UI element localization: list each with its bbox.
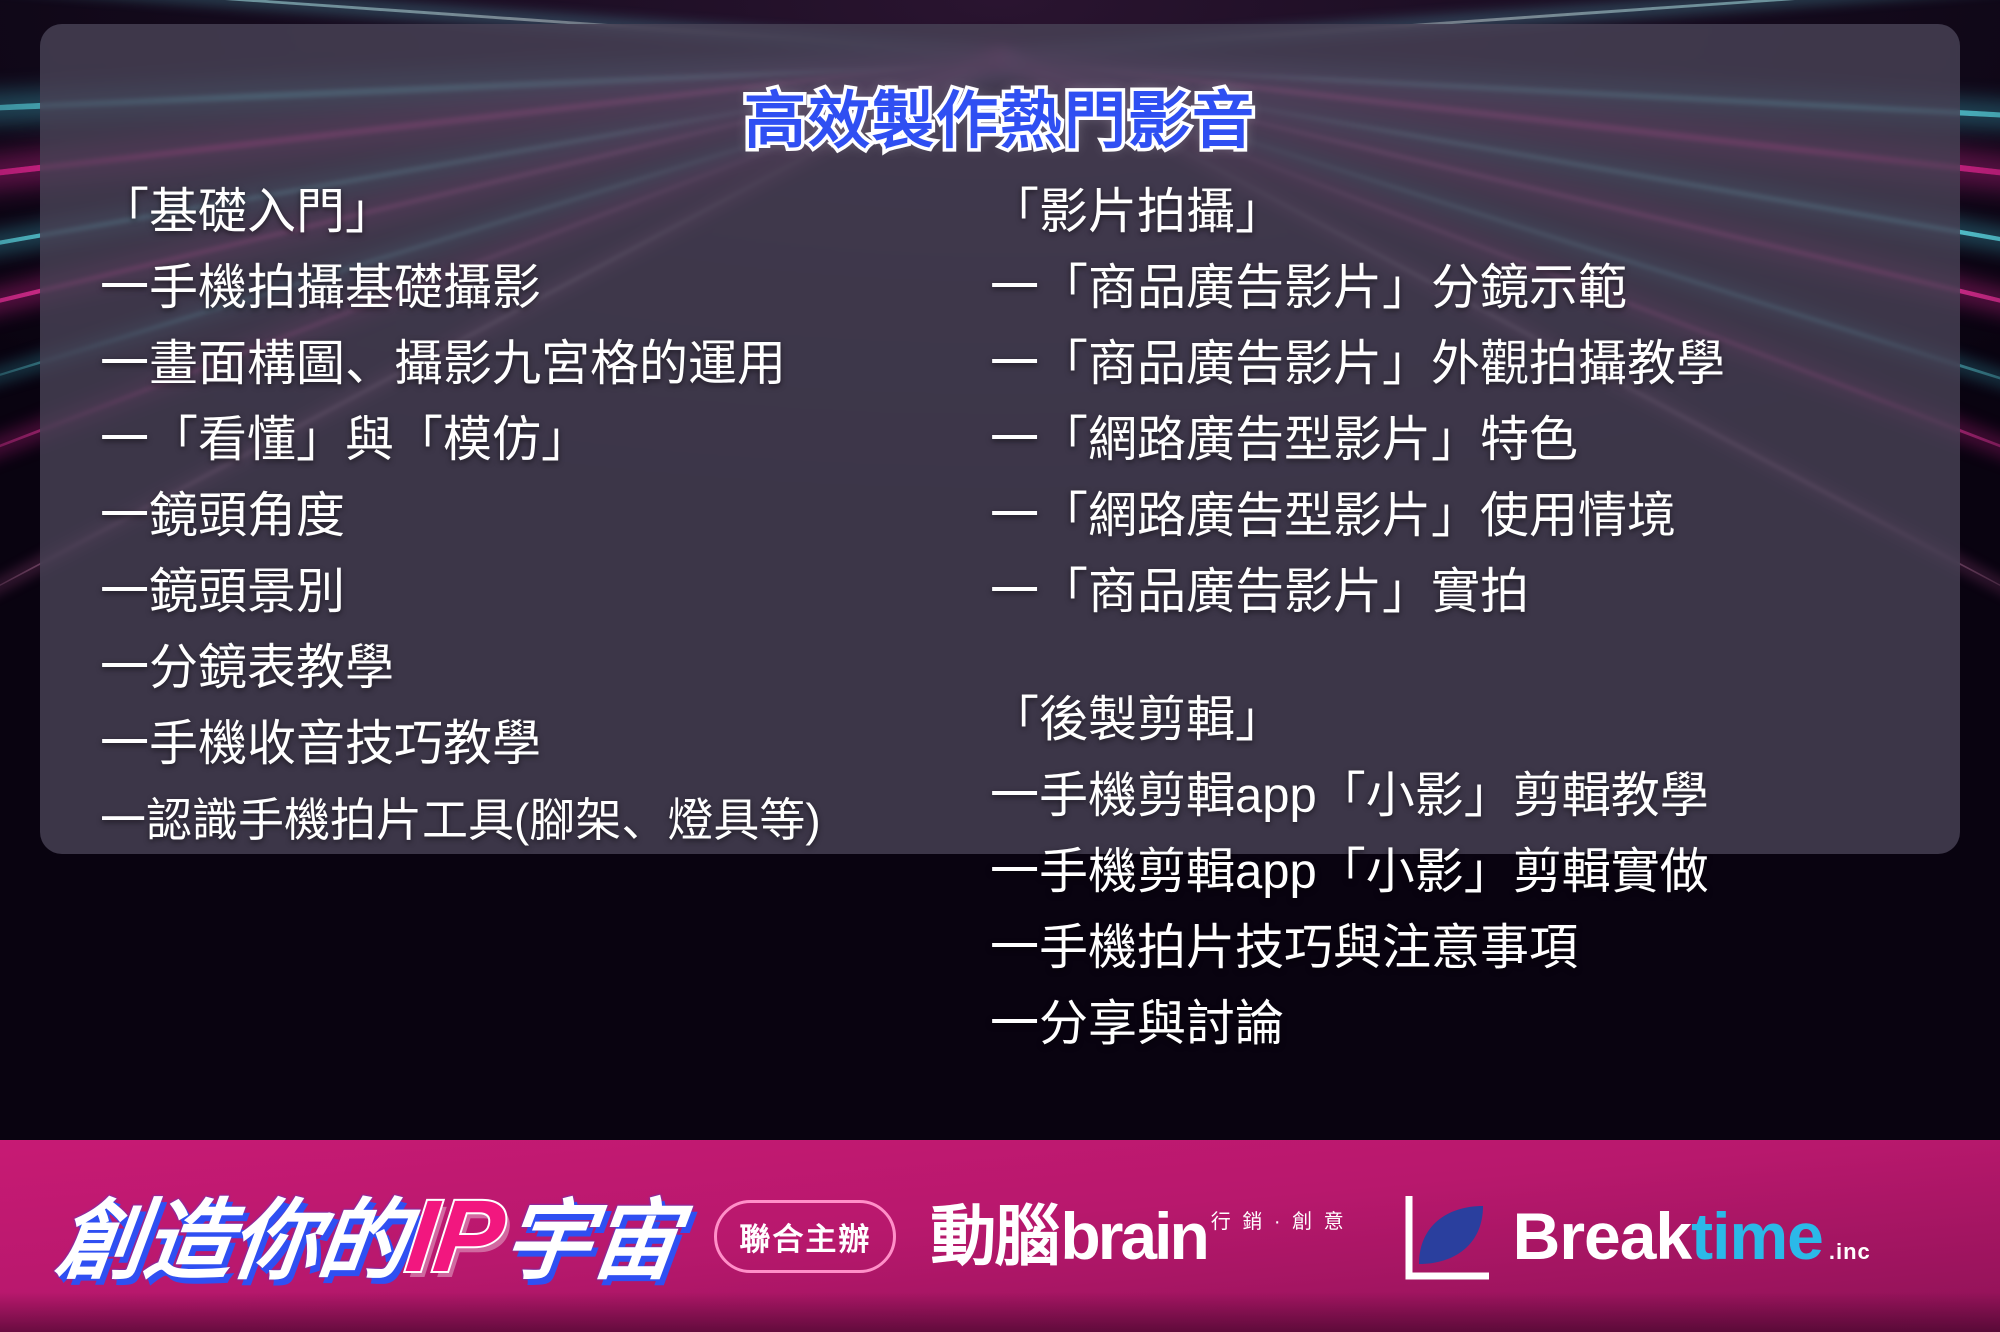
page-title: 高效製作熱門影音 xyxy=(40,70,1960,160)
left-column: 「基礎入門」 一手機拍攝基礎攝影 一畫面構圖、攝影九宮格的運用 一「看懂」與「模… xyxy=(40,174,960,1062)
co-organizer-badge: 聯合主辦 xyxy=(714,1200,896,1273)
list-item: 一「商品廣告影片」實拍 xyxy=(990,554,1960,630)
list-item: 一鏡頭角度 xyxy=(100,478,960,554)
list-item: 一分享與討論 xyxy=(990,986,1960,1062)
breaktime-wordmark: Breaktime.inc xyxy=(1513,1203,1871,1269)
brain-logo: 動腦 brain 行 銷 · 創 意 xyxy=(930,1203,1346,1269)
breaktime-logo: Breaktime.inc xyxy=(1403,1190,1871,1282)
breaktime-word-break: Break xyxy=(1513,1203,1691,1269)
list-item: 「基礎入門」 xyxy=(100,174,960,250)
list-item: 一鏡頭景別 xyxy=(100,554,960,630)
event-slogan: 創造你的IP宇宙 xyxy=(52,1185,685,1287)
list-item: 「影片拍攝」 xyxy=(990,174,1960,250)
course-outline-columns: 「基礎入門」 一手機拍攝基礎攝影 一畫面構圖、攝影九宮格的運用 一「看懂」與「模… xyxy=(40,174,1960,1062)
breaktime-mark-icon xyxy=(1403,1190,1495,1282)
content-panel: 高效製作熱門影音 「基礎入門」 一手機拍攝基礎攝影 一畫面構圖、攝影九宮格的運用… xyxy=(40,24,1960,854)
brain-logo-tagline: 行 銷 · 創 意 xyxy=(1211,1205,1347,1234)
list-item: 一畫面構圖、攝影九宮格的運用 xyxy=(100,326,960,402)
bottom-banner: 創造你的IP宇宙 聯合主辦 動腦 brain 行 銷 · 創 意 Breakti… xyxy=(0,1140,2000,1332)
list-item: 一「看懂」與「模仿」 xyxy=(100,402,960,478)
slogan-part-ip: IP xyxy=(399,1179,511,1293)
brain-logo-cn: 動腦 xyxy=(930,1203,1058,1269)
breaktime-word-time: time xyxy=(1691,1203,1823,1269)
slogan-part-3: 宇宙 xyxy=(498,1191,684,1290)
list-item: 一「商品廣告影片」分鏡示範 xyxy=(990,250,1960,326)
breaktime-word-inc: .inc xyxy=(1829,1241,1871,1263)
list-item: 一手機收音技巧教學 xyxy=(100,706,960,782)
list-item: 一分鏡表教學 xyxy=(100,630,960,706)
group-spacer xyxy=(990,630,1960,682)
list-item: 一手機拍攝基礎攝影 xyxy=(100,250,960,326)
right-column: 「影片拍攝」 一「商品廣告影片」分鏡示範 一「商品廣告影片」外觀拍攝教學 一「網… xyxy=(960,174,1960,1062)
list-item: 一手機剪輯app「小影」剪輯教學 xyxy=(990,758,1960,834)
slogan-part-1: 創造你的 xyxy=(51,1191,411,1290)
list-item: 一認識手機拍片工具(腳架、燈具等) xyxy=(100,782,960,858)
list-item: 一手機剪輯app「小影」剪輯實做 xyxy=(990,834,1960,910)
list-item: 「後製剪輯」 xyxy=(990,682,1960,758)
slide-root: 高效製作熱門影音 「基礎入門」 一手機拍攝基礎攝影 一畫面構圖、攝影九宮格的運用… xyxy=(0,0,2000,1332)
brain-logo-en: brain xyxy=(1060,1203,1206,1269)
list-item: 一「網路廣告型影片」特色 xyxy=(990,402,1960,478)
list-item: 一手機拍片技巧與注意事項 xyxy=(990,910,1960,986)
list-item: 一「商品廣告影片」外觀拍攝教學 xyxy=(990,326,1960,402)
list-item: 一「網路廣告型影片」使用情境 xyxy=(990,478,1960,554)
